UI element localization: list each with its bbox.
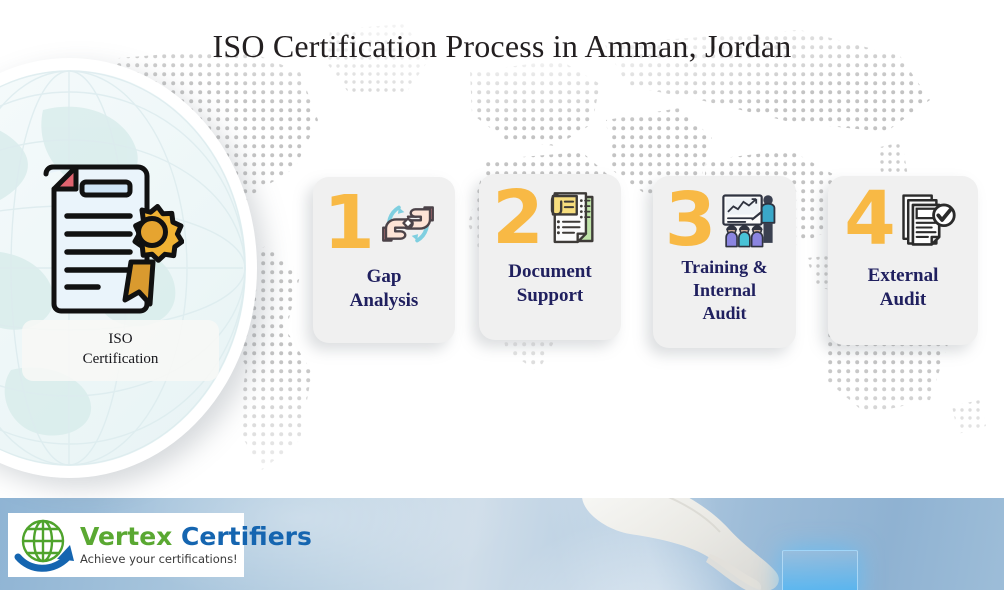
hand-touching-screen-image — [560, 498, 820, 590]
step-label-line1: Gap — [313, 265, 455, 289]
logo-name: Vertex Certifiers — [80, 524, 312, 549]
step-label-line1: External — [828, 264, 978, 288]
step-card-training-internal-audit[interactable]: 3 — [653, 176, 796, 348]
step-card-label: Training & Internal Audit — [653, 256, 796, 325]
globe-arrow-icon — [14, 517, 76, 573]
step-card-label: Gap Analysis — [313, 265, 455, 314]
step-card-label: Document Support — [479, 260, 621, 309]
step-card-header: 1 — [313, 177, 455, 257]
step-label-line2: Internal — [653, 279, 796, 302]
step-label-line2: Support — [479, 284, 621, 308]
step-card-label: External Audit — [828, 264, 978, 313]
step-label-line2: Audit — [828, 288, 978, 312]
step-label-line2: Analysis — [313, 289, 455, 313]
step-number: 2 — [492, 187, 542, 251]
vertex-certifiers-logo[interactable]: Vertex Certifiers Achieve your certifica… — [8, 513, 244, 577]
documents-sticky-note-icon — [544, 186, 604, 252]
iso-label-line1: ISO — [28, 329, 213, 349]
page-title: ISO Certification Process in Amman, Jord… — [0, 28, 1004, 65]
step-number: 1 — [323, 192, 373, 256]
glowing-touch-panel — [782, 550, 858, 590]
step-number: 4 — [844, 188, 894, 252]
step-card-header: 3 — [653, 176, 796, 253]
handshake-teamwork-icon — [375, 191, 441, 257]
iso-certification-label: ISO Certification — [22, 320, 219, 381]
step-card-gap-analysis[interactable]: 1 — [313, 177, 455, 343]
step-label-line3: Audit — [653, 302, 796, 325]
training-presentation-icon — [716, 190, 780, 252]
step-card-header: 4 — [828, 176, 978, 252]
logo-name-part2: Certifiers — [181, 522, 312, 551]
documents-check-icon — [896, 188, 958, 252]
logo-text-block: Vertex Certifiers Achieve your certifica… — [80, 524, 312, 566]
iso-certification-badge: ISO Certification — [0, 58, 257, 478]
certificate-seal-icon — [32, 158, 184, 318]
step-card-external-audit[interactable]: 4 — [828, 176, 978, 345]
step-number: 3 — [665, 189, 715, 253]
step-label-line1: Document — [479, 260, 621, 284]
logo-tagline: Achieve your certifications! — [80, 554, 312, 566]
iso-label-line2: Certification — [28, 349, 213, 369]
logo-name-part1: Vertex — [80, 522, 181, 551]
infographic-canvas: ISO Certification Process in Amman, Jord… — [0, 0, 1004, 590]
step-card-document-support[interactable]: 2 — [479, 174, 621, 340]
step-card-header: 2 — [479, 174, 621, 252]
